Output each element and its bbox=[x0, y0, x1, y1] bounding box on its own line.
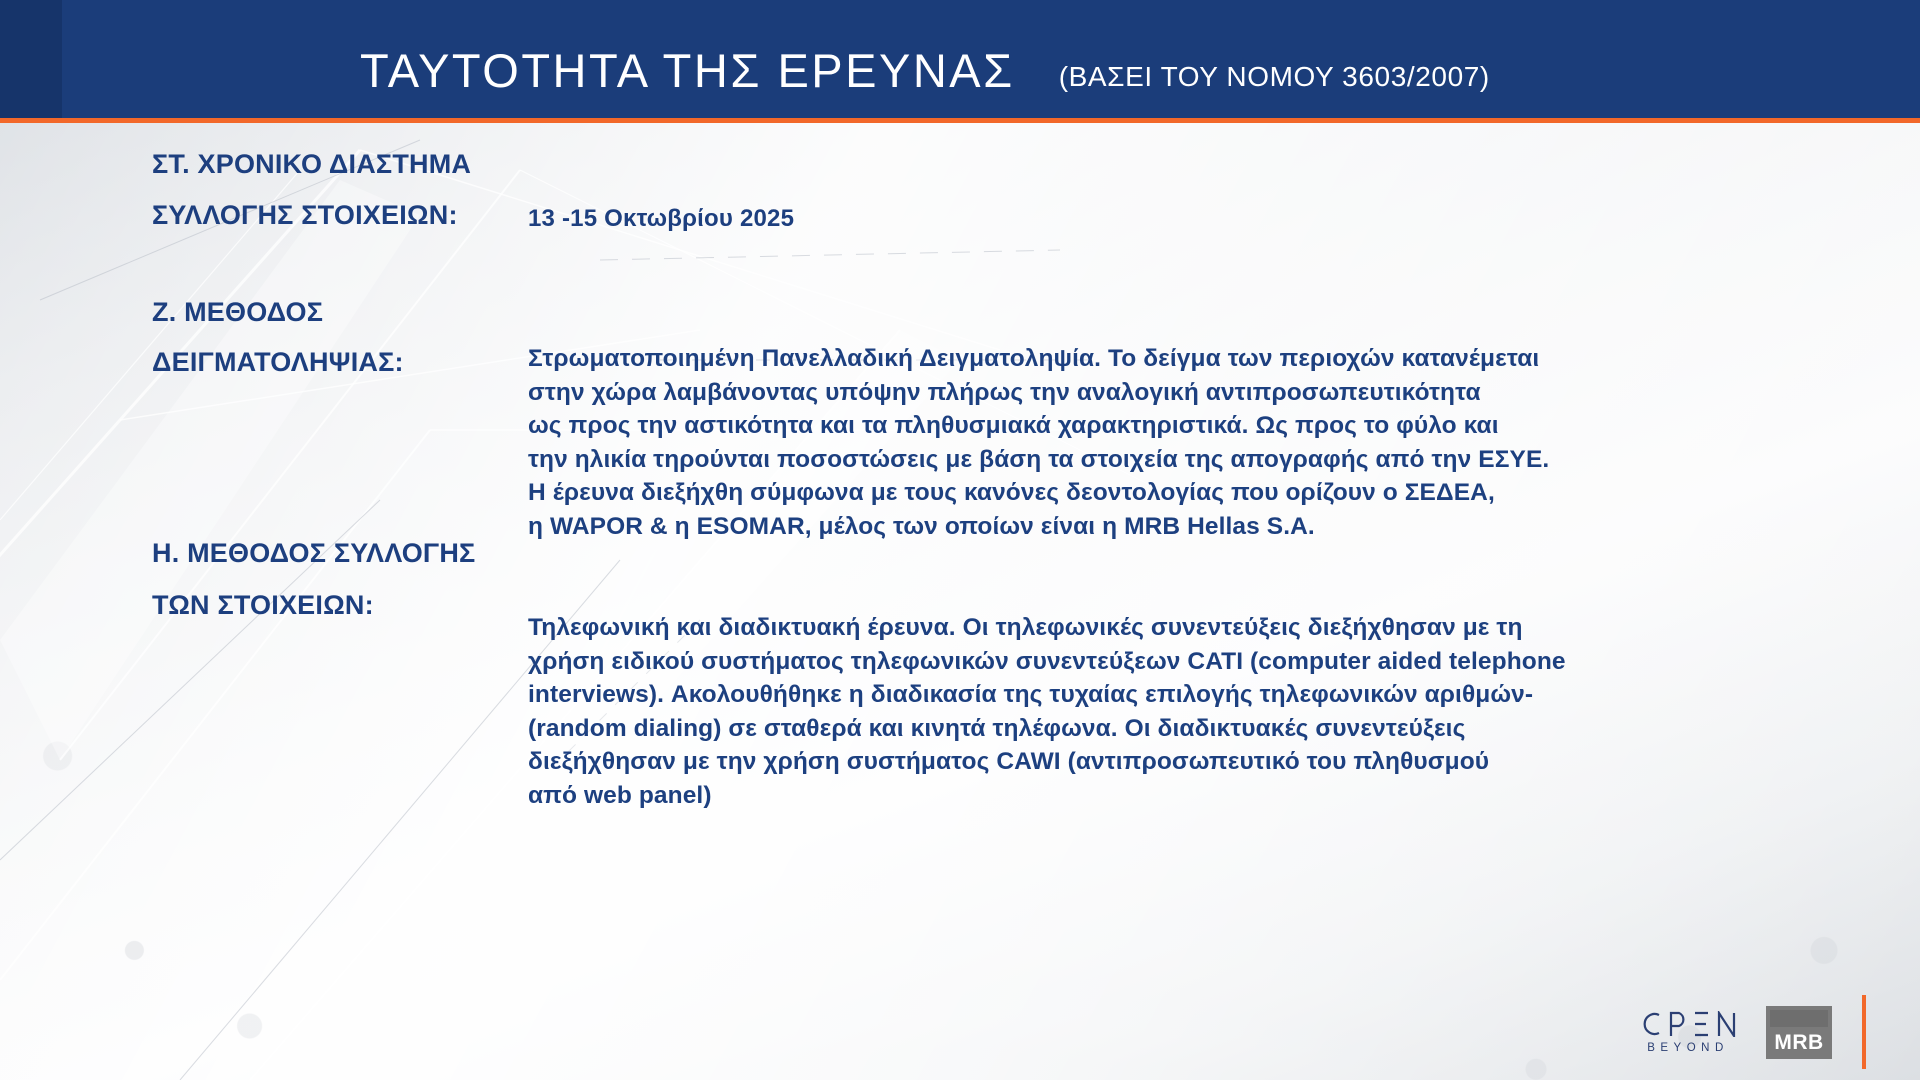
paragraph-line: την ηλικία τηρούνται ποσοστώσεις με βάση… bbox=[528, 443, 1828, 477]
mrb-logo: MRB bbox=[1766, 1006, 1832, 1059]
paragraph-line: Η έρευνα διεξήχθη σύμφωνα με τους κανόνε… bbox=[528, 476, 1828, 510]
collection-method-paragraph: Τηλεφωνική και διαδικτυακή έρευνα. Οι τη… bbox=[528, 611, 1828, 812]
paragraph-line: διεξήχθησαν με την χρήση συστήματος CAWI… bbox=[528, 745, 1828, 779]
open-logo-tagline: BEYOND bbox=[1647, 1042, 1729, 1054]
slide-root: ΤΑΥΤΟΤΗΤΑ ΤΗΣ ΕΡΕΥΝΑΣ (ΒΑΣΕΙ ΤΟΥ ΝΟΜΟΥ 3… bbox=[0, 0, 1920, 1080]
section-label-z-line1: Ζ. ΜΕΘΟΔΟΣ bbox=[152, 298, 323, 328]
paragraph-line: (random dialing) σε σταθερά και κινητά τ… bbox=[528, 712, 1828, 746]
paragraph-line: από web panel) bbox=[528, 779, 1828, 813]
paragraph-line: Τηλεφωνική και διαδικτυακή έρευνα. Οι τη… bbox=[528, 611, 1828, 645]
data-collection-period-value: 13 -15 Οκτωβρίου 2025 bbox=[528, 205, 794, 233]
section-label-st-line1: ΣΤ. ΧΡΟΝΙΚΟ ΔΙΑΣΤΗΜΑ bbox=[152, 150, 471, 180]
header-bar: ΤΑΥΤΟΤΗΤΑ ΤΗΣ ΕΡΕΥΝΑΣ (ΒΑΣΕΙ ΤΟΥ ΝΟΜΟΥ 3… bbox=[0, 0, 1920, 118]
section-label-h-line2: ΤΩΝ ΣΤΟΙΧΕΙΩΝ: bbox=[152, 591, 374, 621]
paragraph-line: η WAPOR & η ESOMAR, μέλος των οποίων είν… bbox=[528, 510, 1828, 544]
open-o-glyph-icon bbox=[1640, 1011, 1662, 1037]
paragraph-line: στην χώρα λαμβάνοντας υπόψην πλήρως την … bbox=[528, 376, 1828, 410]
sampling-method-paragraph: Στρωματοποιημένη Πανελλαδική Δειγματοληψ… bbox=[528, 342, 1828, 543]
page-subtitle: (ΒΑΣΕΙ ΤΟΥ ΝΟΜΟΥ 3603/2007) bbox=[1059, 63, 1490, 94]
header-title-group: ΤΑΥΤΟΤΗΤΑ ΤΗΣ ΕΡΕΥΝΑΣ (ΒΑΣΕΙ ΤΟΥ ΝΟΜΟΥ 3… bbox=[360, 0, 1490, 118]
open-logo-wordmark bbox=[1640, 1011, 1736, 1037]
page-title: ΤΑΥΤΟΤΗΤΑ ΤΗΣ ΕΡΕΥΝΑΣ bbox=[360, 47, 1015, 94]
section-label-z-line2: ΔΕΙΓΜΑΤΟΛΗΨΙΑΣ: bbox=[152, 348, 404, 378]
paragraph-line: Στρωματοποιημένη Πανελλαδική Δειγματοληψ… bbox=[528, 342, 1828, 376]
open-p-glyph-icon bbox=[1669, 1011, 1686, 1037]
paragraph-line: interviews). Ακολουθήθηκε η διαδικασία τ… bbox=[528, 678, 1828, 712]
footer-logos: BEYOND MRB bbox=[1640, 995, 1866, 1069]
open-n-glyph-icon bbox=[1717, 1011, 1736, 1037]
paragraph-line: ως προς την αστικότητα και τα πληθυσμιακ… bbox=[528, 409, 1828, 443]
header-left-block bbox=[0, 0, 62, 118]
footer-accent-rule bbox=[1862, 995, 1866, 1069]
open-e-glyph-icon bbox=[1693, 1011, 1710, 1037]
section-label-st-line2: ΣΥΛΛΟΓΗΣ ΣΤΟΙΧΕΙΩΝ: bbox=[152, 201, 458, 231]
open-beyond-logo: BEYOND bbox=[1640, 1011, 1736, 1054]
mrb-logo-bar bbox=[1770, 1010, 1828, 1027]
mrb-logo-text: MRB bbox=[1770, 1030, 1828, 1055]
slide-content: ΣΤ. ΧΡΟΝΙΚΟ ΔΙΑΣΤΗΜΑ ΣΥΛΛΟΓΗΣ ΣΤΟΙΧΕΙΩΝ:… bbox=[0, 123, 1920, 1080]
paragraph-line: χρήση ειδικού συστήματος τηλεφωνικών συν… bbox=[528, 645, 1828, 679]
section-label-h-line1: Η. ΜΕΘΟΔΟΣ ΣΥΛΛΟΓΗΣ bbox=[152, 539, 475, 569]
